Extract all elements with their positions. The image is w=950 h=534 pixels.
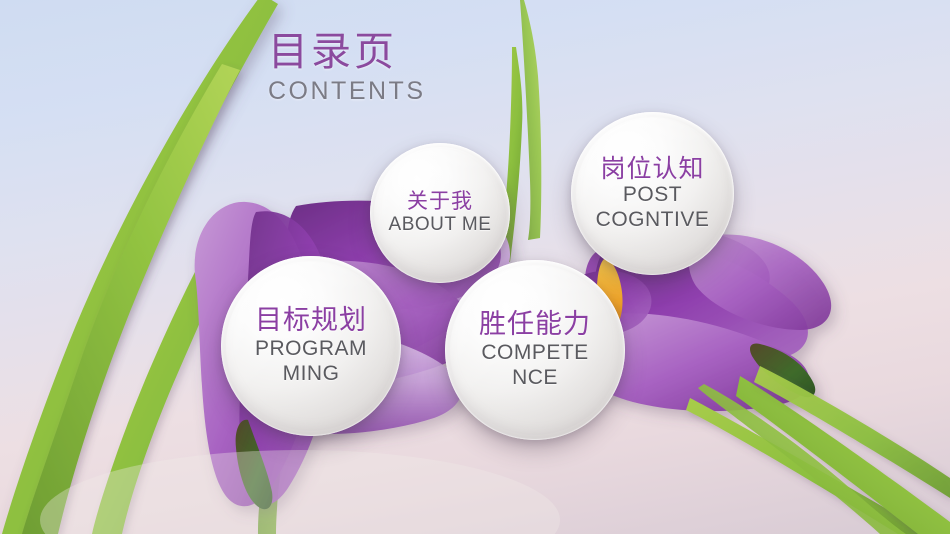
agenda-label-cn: 目标规划 [255, 305, 367, 337]
agenda-label: 关于我 ABOUT ME [389, 189, 492, 236]
leaf-blade-icon [2, 0, 278, 534]
leaf-blade-icon [698, 384, 906, 534]
agenda-label: 胜任能力 COMPETE NCE [479, 309, 591, 390]
agenda-label: 目标规划 PROGRAM MING [255, 305, 367, 386]
agenda-item-competence[interactable]: 胜任能力 COMPETE NCE [445, 260, 625, 440]
agenda-label-en-line2: MING [255, 362, 367, 387]
leaf-blade-icon [686, 398, 930, 534]
agenda-label-en-line1: ABOUT ME [389, 214, 492, 236]
agenda-label-cn: 关于我 [389, 189, 492, 214]
page-title-en: CONTENTS [268, 79, 426, 104]
leaf-blade-icon [92, 210, 244, 534]
agenda-label-en-line2: COGNTIVE [596, 208, 710, 233]
page-title-cn: 目录页 [268, 32, 426, 72]
agenda-label-en-line1: COMPETE [479, 341, 591, 366]
agenda-label-en-line1: PROGRAM [255, 337, 367, 362]
agenda-label: 岗位认知 POST COGNTIVE [596, 154, 710, 233]
agenda-label-en-line1: POST [596, 183, 710, 208]
agenda-item-about-me[interactable]: 关于我 ABOUT ME [370, 143, 510, 283]
leaf-blade-icon [520, 0, 541, 240]
slide-title-block: 目录页 CONTENTS [268, 32, 426, 104]
presentation-slide: 目录页 CONTENTS 关于我 ABOUT ME 岗位认知 POST COGN… [0, 0, 950, 534]
agenda-item-programming[interactable]: 目标规划 PROGRAM MING [221, 256, 401, 436]
leaf-blade-icon [754, 366, 950, 498]
leaf-blade-icon [22, 64, 240, 534]
agenda-label-en-line2: NCE [479, 366, 591, 391]
agenda-item-post-cognitive[interactable]: 岗位认知 POST COGNTIVE [571, 112, 734, 275]
agenda-label-cn: 岗位认知 [596, 154, 710, 184]
agenda-label-cn: 胜任能力 [479, 309, 591, 341]
leaf-blade-icon [736, 376, 950, 534]
